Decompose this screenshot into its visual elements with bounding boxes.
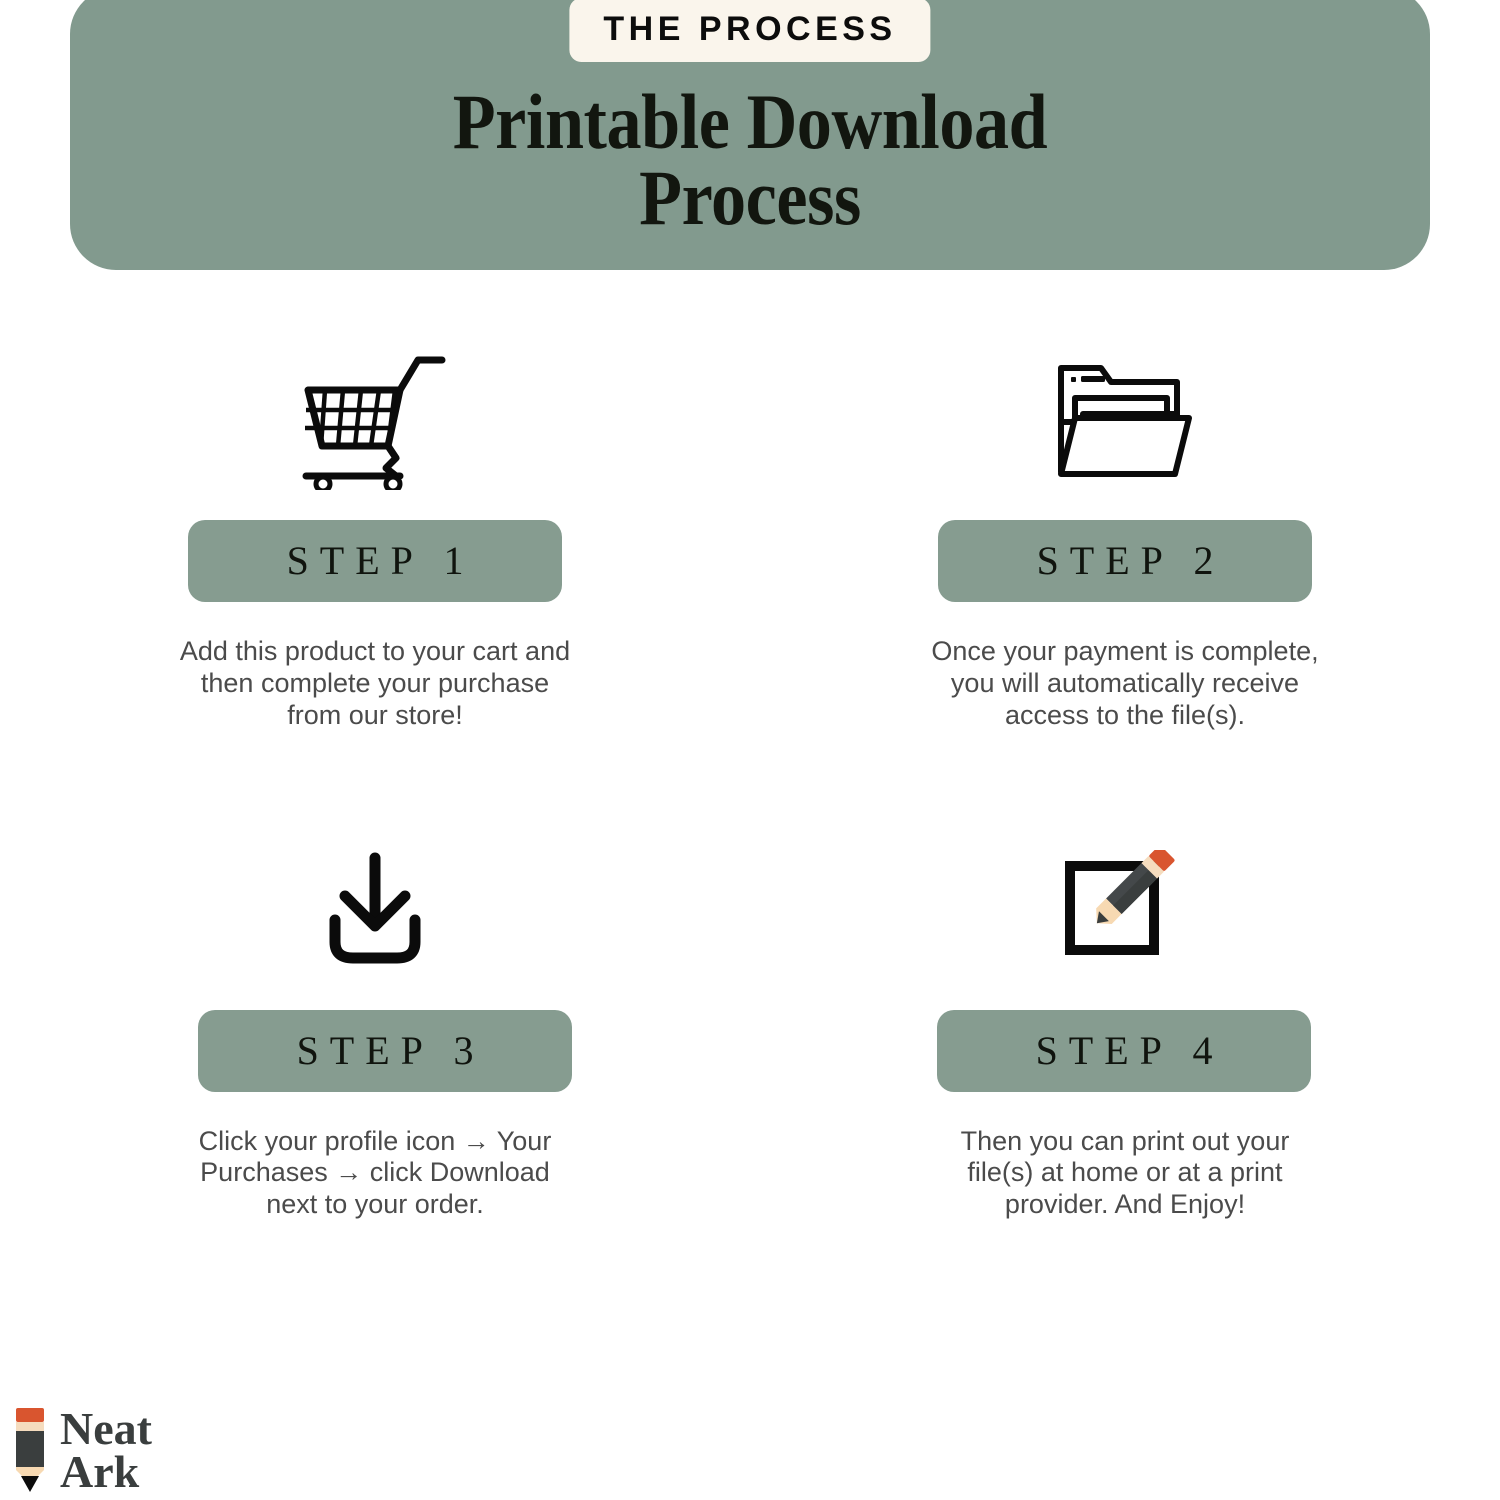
page-title-line-1: Printable Download (138, 84, 1362, 160)
step-2-label: STEP 2 (1026, 541, 1225, 581)
brand-logo: Neat Ark (12, 1406, 152, 1494)
download-icon (315, 850, 435, 970)
header-card: THE PROCESS Printable Download Process (70, 0, 1430, 270)
step-2-pill: STEP 2 (938, 520, 1312, 602)
step-3-label: STEP 3 (286, 1031, 485, 1071)
step-4-description: Then you can print out your file(s) at h… (925, 1126, 1325, 1222)
brand-logo-line-2: Ark (60, 1450, 152, 1493)
page-title: Printable Download Process (138, 84, 1362, 235)
open-folder-icon (1055, 360, 1195, 480)
step-4-pill: STEP 4 (937, 1010, 1311, 1092)
brand-logo-line-1: Neat (60, 1407, 152, 1450)
step-card-2: STEP 2 Once your payment is complete, yo… (750, 330, 1500, 732)
step-4-icon-wrapper (1060, 820, 1190, 1000)
step-4-label: STEP 4 (1025, 1031, 1224, 1071)
step-2-description: Once your payment is complete, you will … (925, 636, 1325, 732)
step-1-pill: STEP 1 (188, 520, 562, 602)
step-3-description: Click your profile icon → Your Purchases… (175, 1126, 575, 1222)
step-card-4: STEP 4 Then you can print out your file(… (750, 820, 1500, 1222)
steps-grid: STEP 1 Add this product to your cart and… (0, 330, 1500, 1221)
step-1-description: Add this product to your cart and then c… (175, 636, 575, 732)
step-card-3: STEP 3 Click your profile icon → Your Pu… (0, 820, 750, 1222)
page-title-line-2: Process (138, 160, 1362, 236)
step-3-pill: STEP 3 (198, 1010, 572, 1092)
step-card-1: STEP 1 Add this product to your cart and… (0, 330, 750, 732)
checkbox-pencil-icon (1060, 850, 1190, 970)
step-1-icon-wrapper (300, 330, 450, 510)
header-badge: THE PROCESS (569, 0, 930, 62)
brand-logo-text: Neat Ark (60, 1407, 152, 1493)
shopping-cart-icon (300, 350, 450, 490)
step-2-icon-wrapper (1055, 330, 1195, 510)
step-3-icon-wrapper (315, 820, 435, 1000)
pencil-icon (12, 1406, 48, 1494)
step-1-label: STEP 1 (276, 541, 475, 581)
header-badge-label: THE PROCESS (603, 12, 896, 46)
